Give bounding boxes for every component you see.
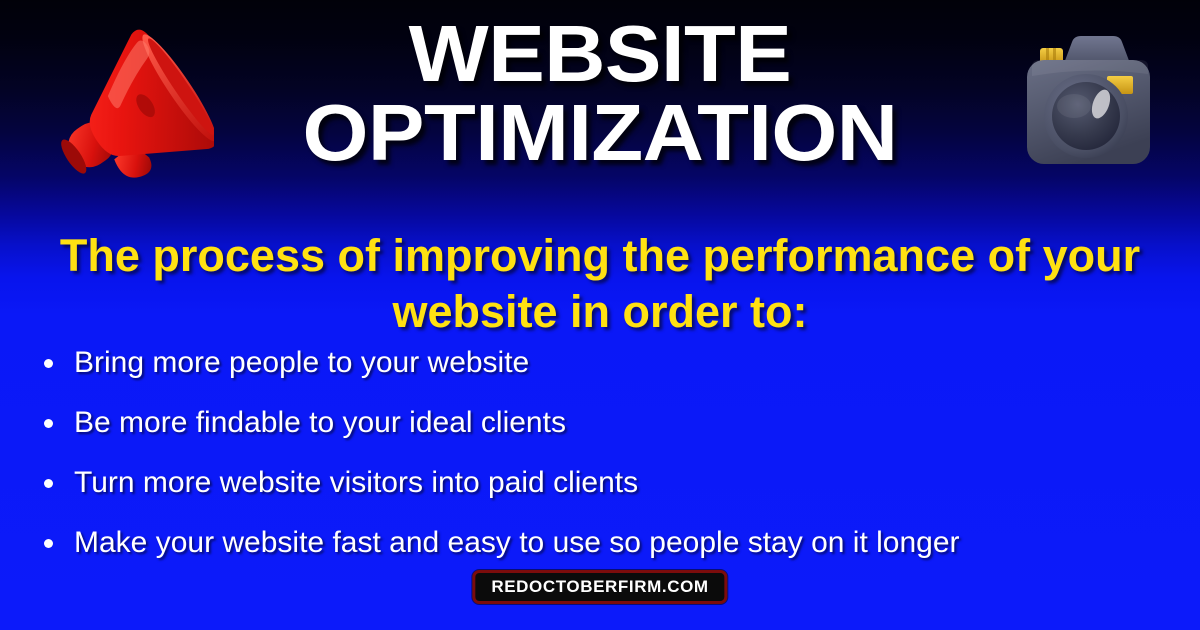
subheading: The process of improving the performance… [18, 228, 1182, 341]
title-line-1: WEBSITE [0, 14, 1200, 93]
bullet-dot-icon [44, 539, 53, 548]
title-line-2: OPTIMIZATION [0, 93, 1200, 172]
poster-canvas: WEBSITE OPTIMIZATION The process of impr… [0, 0, 1200, 630]
bullet-dot-icon [44, 419, 53, 428]
page-title: WEBSITE OPTIMIZATION [0, 14, 1200, 172]
list-item-label: Make your website fast and easy to use s… [74, 526, 960, 559]
bullet-dot-icon [44, 479, 53, 488]
list-item: Turn more website visitors into paid cli… [34, 468, 1170, 498]
list-item: Make your website fast and easy to use s… [34, 528, 1170, 558]
bullet-dot-icon [44, 359, 53, 368]
list-item-label: Be more findable to your ideal clients [74, 406, 566, 439]
website-badge[interactable]: REDOCTOBERFIRM.COM [472, 570, 727, 604]
list-item-label: Turn more website visitors into paid cli… [74, 466, 638, 499]
benefits-list: Bring more people to your website Be mor… [34, 348, 1170, 558]
list-item: Bring more people to your website [34, 348, 1170, 378]
list-item: Be more findable to your ideal clients [34, 408, 1170, 438]
list-item-label: Bring more people to your website [74, 346, 529, 379]
